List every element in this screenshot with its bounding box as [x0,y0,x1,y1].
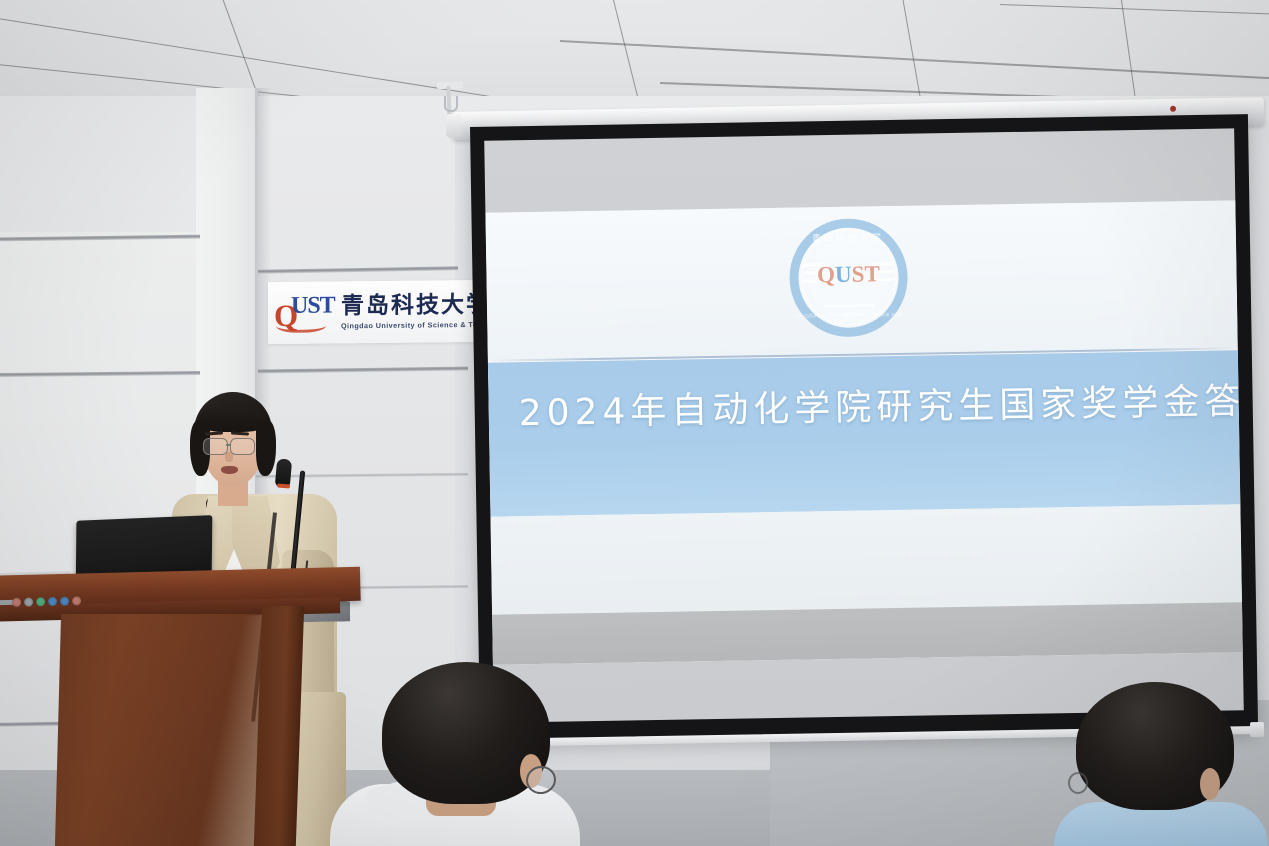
presenter-nose [225,452,233,462]
presenter-glasses-right-lens [230,438,255,455]
screen-hanger-hook-icon [444,96,458,112]
slide-band-white-bottom [490,504,1242,614]
screen-surface: 青岛科技大学 QUST 1950 QINGDAO UNIVERSITY OF S… [484,128,1244,722]
presenter-glasses-left-lens [203,438,228,455]
audience-right-glasses [1068,772,1088,794]
seal-letters-st: ST [851,261,880,286]
seal-letter-q: Q [817,262,835,287]
podium-control-buttons[interactable] [12,596,81,607]
audience-member-front-right [1040,680,1269,846]
presenter-hair-side-right [256,420,276,476]
roller-brand-dot-icon [1170,106,1176,112]
audience-right-ear [1200,768,1220,800]
presenter-mouth [221,466,238,474]
podium-button-2[interactable] [24,597,33,606]
projected-slide: 青岛科技大学 QUST 1950 QINGDAO UNIVERSITY OF S… [485,200,1242,664]
audience-member-front-left [330,668,600,846]
presentation-room-photo: Q UST 青岛科技大学 Qingdao University of Scien… [0,0,1269,846]
podium-body [55,614,281,846]
podium-button-1[interactable] [12,598,21,607]
seal-letter-u: U [835,262,852,287]
projection-screen: 青岛科技大学 QUST 1950 QINGDAO UNIVERSITY OF S… [470,114,1258,742]
qust-seal-icon: 青岛科技大学 QUST 1950 QINGDAO UNIVERSITY OF S… [789,218,909,338]
seal-monogram: QUST [789,262,907,287]
presenter-glasses-bridge [226,444,231,446]
logo-swoosh-icon [276,318,326,334]
podium-button-3[interactable] [36,597,45,606]
seal-arc-en: QINGDAO UNIVERSITY OF SCIENCE AND TECHNO… [790,312,908,324]
university-wall-sign: Q UST 青岛科技大学 Qingdao University of Scien… [268,280,490,344]
roller-end-cap [446,114,462,138]
podium-button-6[interactable] [72,596,81,605]
seal-arc-cn: 青岛科技大学 [789,230,907,245]
podium-button-5[interactable] [60,597,69,606]
podium-button-4[interactable] [48,597,57,606]
qust-logo-icon: Q UST [274,292,332,333]
logo-letters-ust: UST [291,293,335,317]
podium-side-panel [254,606,304,846]
